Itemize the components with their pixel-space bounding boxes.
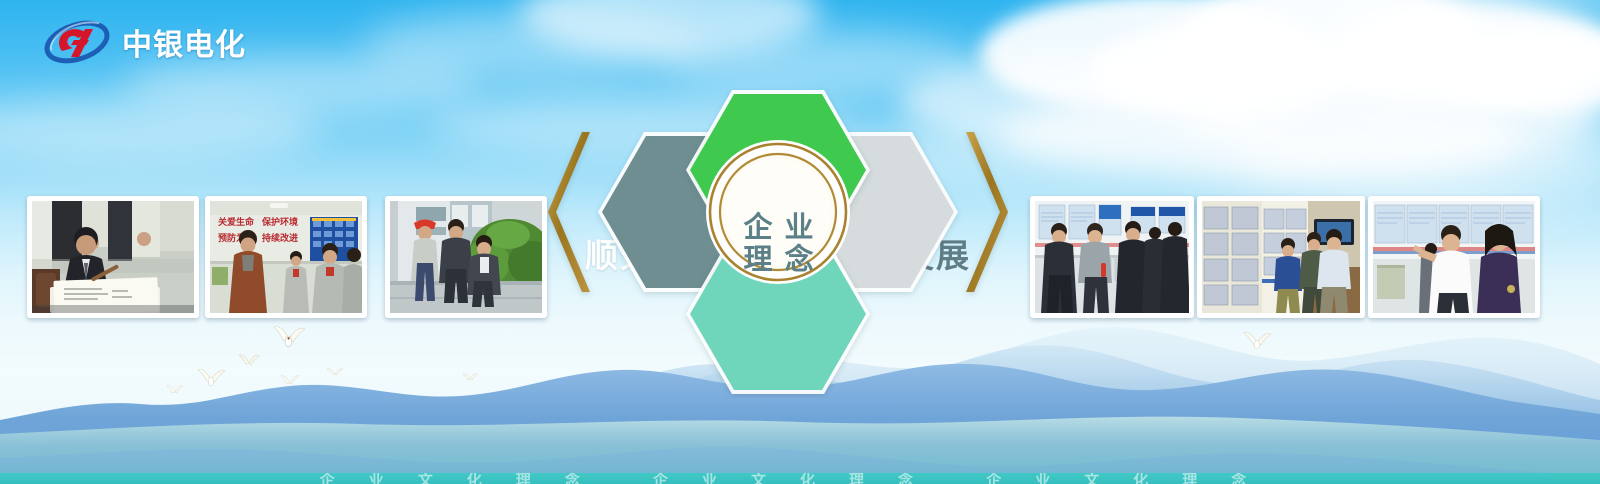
banner-canvas: 中银电化 (0, 0, 1600, 484)
photo-6-image (1373, 201, 1535, 313)
zhongyin-dianhua-logo-icon (44, 18, 110, 66)
list-item[interactable] (1368, 196, 1540, 318)
list-item[interactable] (1197, 196, 1365, 318)
svg-text:关爱生命: 关爱生命 (218, 216, 255, 228)
photo-4-image (1035, 201, 1189, 313)
photo-2-image: 关爱生命保护环境 预防为主持续改进 (210, 201, 362, 313)
center-emblem (706, 140, 850, 284)
mountain-range-haze (0, 404, 1600, 484)
list-item[interactable] (1030, 196, 1194, 318)
chevron-right-bracket-icon (966, 132, 1008, 292)
photo-5-image (1202, 201, 1360, 313)
svg-text:保护环境: 保护环境 (261, 216, 298, 228)
photo-3-image (390, 201, 542, 313)
photo-1-image (32, 201, 194, 313)
list-item[interactable] (385, 196, 547, 318)
svg-text:持续改进: 持续改进 (262, 232, 298, 244)
brand-wordmark: 中银电化 (122, 20, 246, 64)
list-item[interactable] (27, 196, 199, 318)
bottom-accent-strip: 企业文化理念 企业文化理念 企业文化理念 (0, 473, 1600, 484)
chevron-left-bracket-icon (548, 132, 590, 292)
list-item[interactable]: 关爱生命保护环境 预防为主持续改进 (205, 196, 367, 318)
bottom-clipped-text: 企业文化理念 企业文化理念 企业文化理念 (0, 473, 1600, 484)
brand-logo[interactable]: 中银电化 (44, 18, 246, 66)
company-philosophy-diagram (548, 86, 1008, 398)
